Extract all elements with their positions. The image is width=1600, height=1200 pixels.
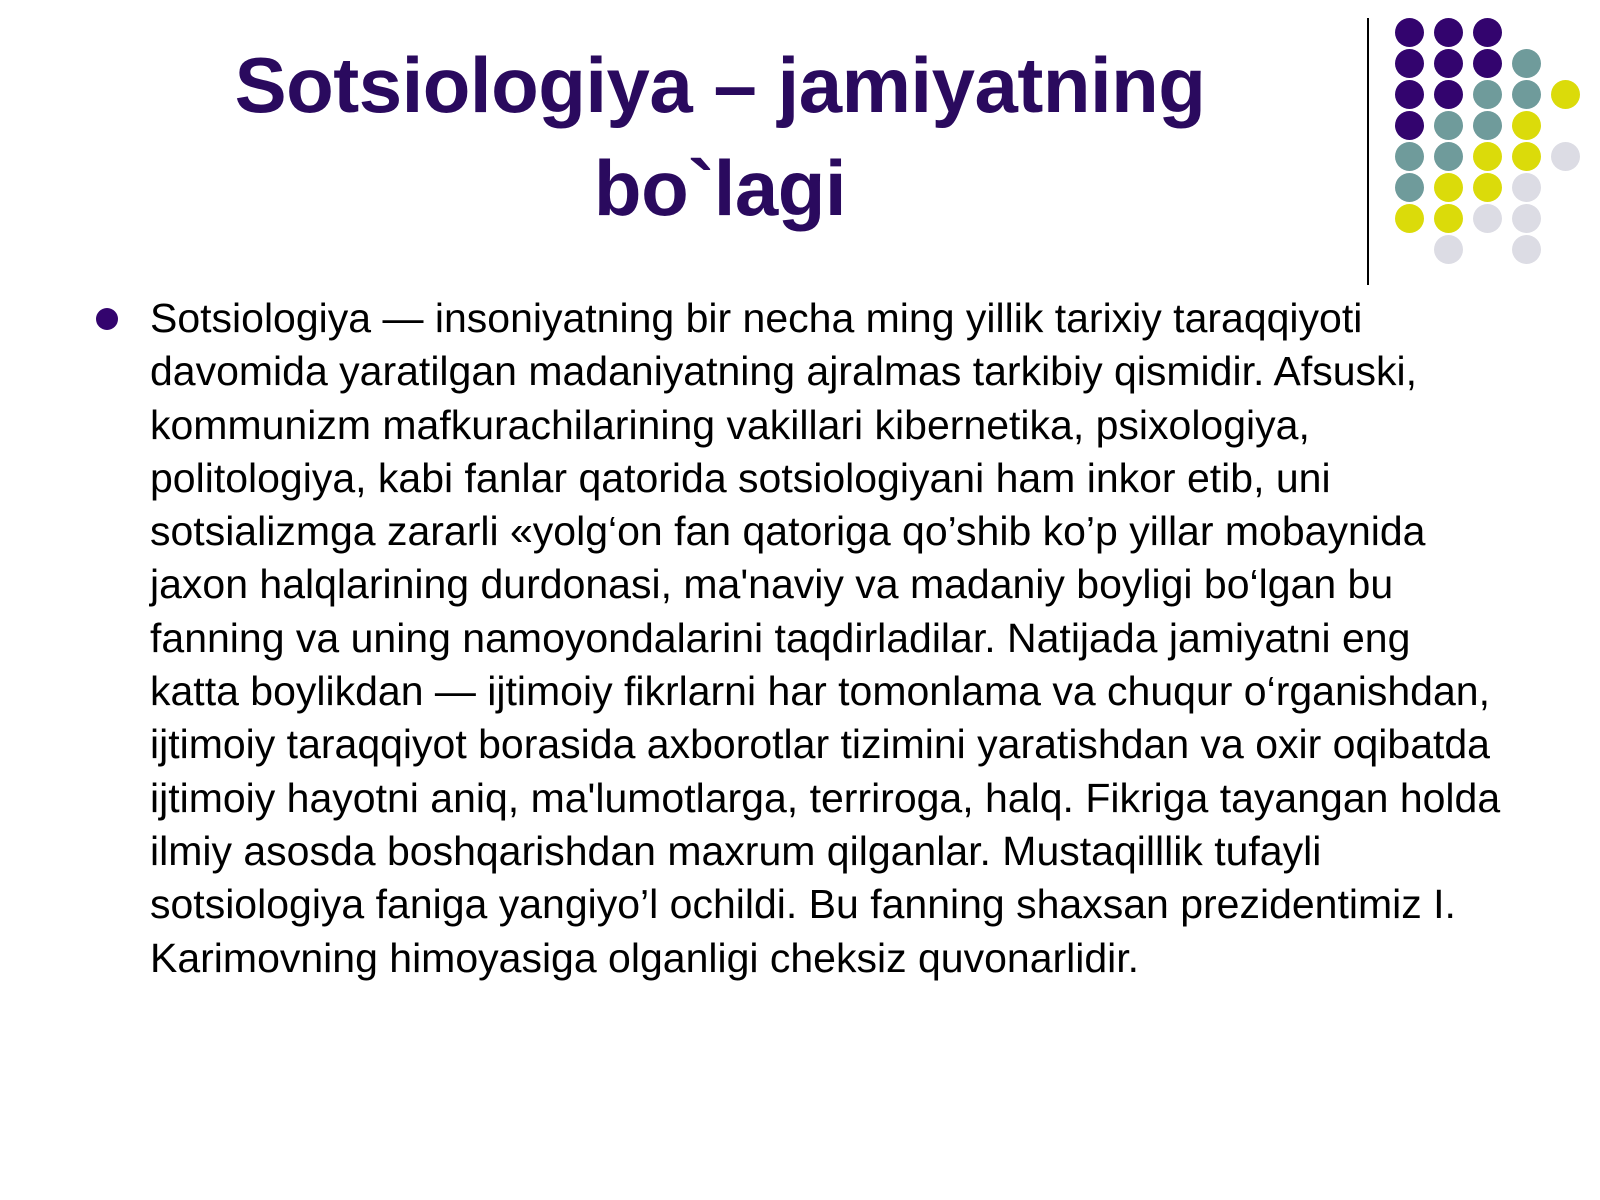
dot-grey-icon — [1512, 173, 1541, 202]
dot-grey-icon — [1512, 235, 1541, 264]
dot-yellow-icon — [1473, 173, 1502, 202]
dot-cell — [1549, 204, 1588, 235]
dot-cell — [1510, 18, 1549, 49]
body-content: Sotsiologiya — insoniyatning bir necha m… — [86, 292, 1506, 985]
bullet-marker — [86, 292, 150, 330]
dot-none-icon — [1395, 235, 1424, 264]
dot-purple-icon — [1434, 80, 1463, 109]
dot-cell — [1549, 18, 1588, 49]
dot-purple-icon — [1395, 49, 1424, 78]
dot-cell — [1549, 80, 1588, 111]
dot-cell — [1510, 173, 1549, 204]
dot-cell — [1471, 204, 1510, 235]
dot-cell — [1549, 235, 1588, 266]
bullet-dot-icon — [96, 308, 118, 330]
dot-none-icon — [1551, 49, 1580, 78]
dot-cell — [1471, 111, 1510, 142]
dot-none-icon — [1551, 173, 1580, 202]
dot-cell — [1432, 18, 1471, 49]
dot-none-icon — [1473, 235, 1502, 264]
list-item: Sotsiologiya — insoniyatning bir necha m… — [86, 292, 1506, 985]
dot-cell — [1393, 49, 1432, 80]
title-line-2: bo`lagi — [594, 144, 846, 232]
dot-cell — [1393, 18, 1432, 49]
dot-grey-icon — [1551, 142, 1580, 171]
dot-cell — [1393, 204, 1432, 235]
dot-cell — [1432, 111, 1471, 142]
dot-cell — [1432, 173, 1471, 204]
dot-teal-icon — [1395, 173, 1424, 202]
dot-cell — [1432, 49, 1471, 80]
dot-none-icon — [1551, 235, 1580, 264]
dot-yellow-icon — [1473, 142, 1502, 171]
dot-cell — [1471, 18, 1510, 49]
dot-yellow-icon — [1434, 204, 1463, 233]
dot-grid-logo — [1345, 0, 1600, 300]
dot-cell — [1432, 204, 1471, 235]
dot-grey-icon — [1512, 204, 1541, 233]
dot-purple-icon — [1434, 18, 1463, 47]
dot-cell — [1510, 235, 1549, 266]
dot-cell — [1510, 111, 1549, 142]
dot-teal-icon — [1473, 80, 1502, 109]
decorative-dot-grid — [1393, 18, 1588, 266]
dot-cell — [1510, 142, 1549, 173]
page-title: Sotsiologiya – jamiyatning bo`lagi — [120, 34, 1320, 240]
dot-purple-icon — [1395, 111, 1424, 140]
dot-cell — [1432, 235, 1471, 266]
dot-none-icon — [1551, 111, 1580, 140]
dot-grey-icon — [1473, 204, 1502, 233]
dot-cell — [1510, 80, 1549, 111]
dot-cell — [1510, 204, 1549, 235]
dot-cell — [1393, 111, 1432, 142]
dot-cell — [1432, 142, 1471, 173]
dot-cell — [1471, 80, 1510, 111]
title-line-1: Sotsiologiya – jamiyatning — [235, 41, 1206, 129]
dot-teal-icon — [1434, 111, 1463, 140]
dot-yellow-icon — [1512, 111, 1541, 140]
dot-purple-icon — [1395, 80, 1424, 109]
dot-teal-icon — [1512, 80, 1541, 109]
dot-cell — [1432, 80, 1471, 111]
dot-teal-icon — [1473, 111, 1502, 140]
dot-none-icon — [1512, 18, 1541, 47]
dot-cell — [1393, 173, 1432, 204]
dot-teal-icon — [1512, 49, 1541, 78]
dot-cell — [1510, 49, 1549, 80]
dot-teal-icon — [1434, 142, 1463, 171]
vertical-divider-line — [1367, 18, 1369, 285]
dot-yellow-icon — [1395, 204, 1424, 233]
dot-teal-icon — [1395, 142, 1424, 171]
dot-cell — [1549, 111, 1588, 142]
dot-grey-icon — [1434, 235, 1463, 264]
dot-cell — [1471, 142, 1510, 173]
dot-yellow-icon — [1512, 142, 1541, 171]
dot-purple-icon — [1473, 18, 1502, 47]
dot-cell — [1549, 142, 1588, 173]
dot-none-icon — [1551, 204, 1580, 233]
dot-purple-icon — [1434, 49, 1463, 78]
dot-none-icon — [1551, 18, 1580, 47]
slide-canvas: Sotsiologiya – jamiyatning bo`lagi Sotsi… — [0, 0, 1600, 1200]
dot-yellow-icon — [1551, 80, 1580, 109]
dot-purple-icon — [1473, 49, 1502, 78]
dot-cell — [1471, 173, 1510, 204]
dot-cell — [1393, 235, 1432, 266]
dot-cell — [1549, 49, 1588, 80]
bullet-paragraph: Sotsiologiya — insoniyatning bir necha m… — [150, 292, 1506, 985]
dot-cell — [1393, 142, 1432, 173]
dot-cell — [1471, 235, 1510, 266]
dot-cell — [1393, 80, 1432, 111]
dot-yellow-icon — [1434, 173, 1463, 202]
dot-cell — [1471, 49, 1510, 80]
dot-cell — [1549, 173, 1588, 204]
dot-purple-icon — [1395, 18, 1424, 47]
